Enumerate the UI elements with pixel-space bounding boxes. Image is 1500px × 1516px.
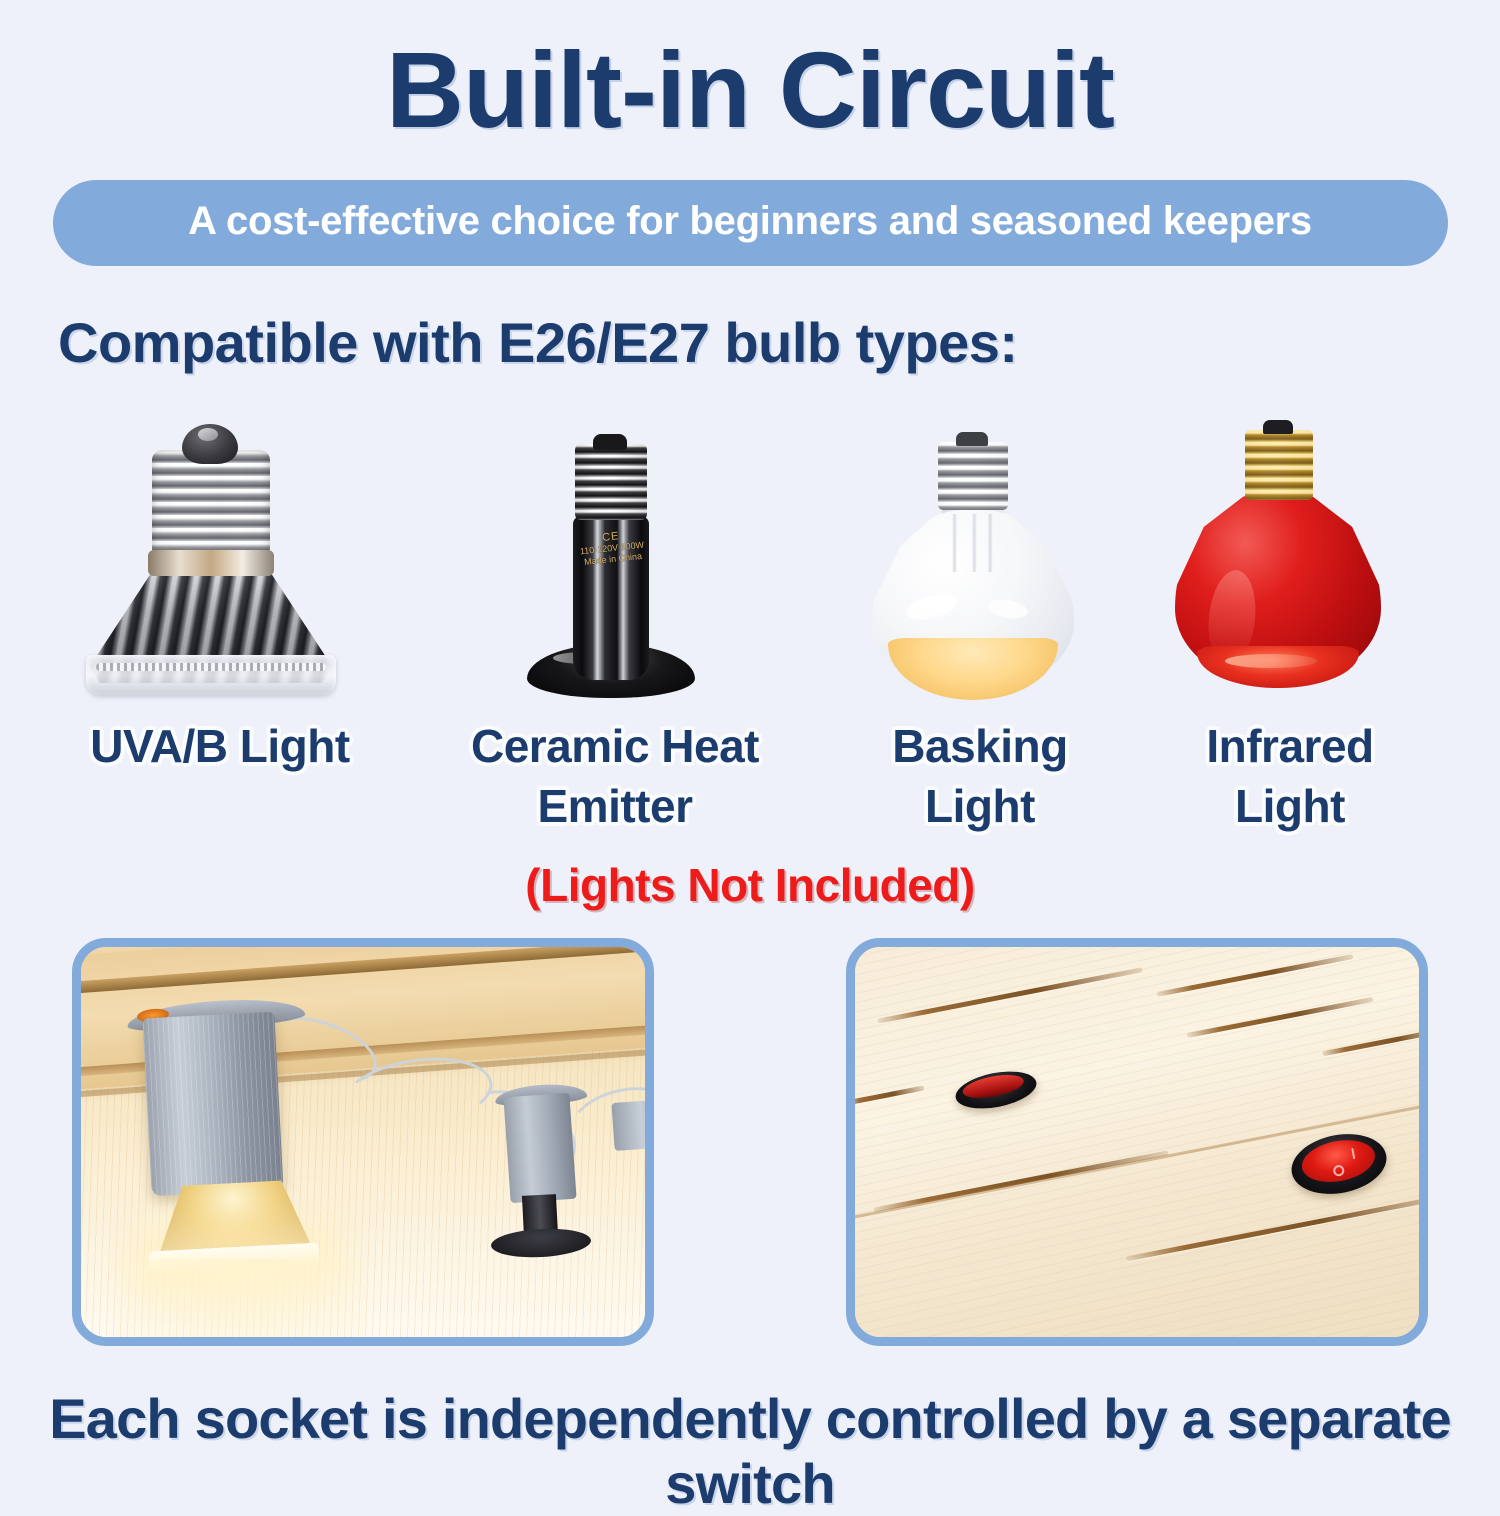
rocker-switches-on-wood-top-photo: [846, 938, 1428, 1346]
bulb-label-basking-light: Basking Light: [845, 716, 1115, 836]
second-lamp-socket: [503, 1093, 576, 1203]
third-lamp-socket: [611, 1099, 645, 1151]
subtitle-banner: A cost-effective choice for beginners an…: [53, 180, 1448, 266]
photo-canvas-right: [855, 947, 1419, 1337]
infrared-bulb-icon: [1135, 400, 1435, 700]
bulb-tip-contact: [593, 434, 627, 450]
bulb-screw-base: [938, 442, 1008, 510]
bulb-collar: [148, 550, 274, 576]
page-title: Built-in Circuit: [0, 36, 1500, 144]
bulb-tip-contact: [956, 432, 988, 446]
bulb-tip-contact: [1263, 420, 1293, 434]
sockets-under-wood-ceiling-photo: [72, 938, 654, 1346]
bulb-screw-base: [575, 444, 647, 520]
bulb-gallery: CE 110-120V 100W Made in China: [0, 400, 1500, 720]
bulb-screw-base: [1245, 430, 1313, 500]
bulb-lens: [86, 655, 336, 695]
compatibility-heading: Compatible with E26/E27 bulb types:: [58, 310, 1018, 375]
bulb-label-ceramic-heat-emitter: Ceramic Heat Emitter: [430, 716, 800, 836]
subtitle-banner-wrap: A cost-effective choice for beginners an…: [0, 180, 1500, 266]
switch-on-marking-icon: [1351, 1148, 1355, 1159]
bulb-filament: [940, 514, 1006, 572]
footer-caption: Each socket is independently controlled …: [0, 1386, 1500, 1516]
bulb-warm-glow: [888, 638, 1058, 700]
bulb-front-face: [1197, 646, 1359, 688]
uva-b-reflector-bulb-icon: [70, 400, 370, 700]
bulb-tip-contact: [182, 424, 238, 464]
photo-canvas-left: [81, 947, 645, 1337]
bulb-label-uva-b: UVA/B Light: [40, 716, 400, 776]
bulb-screw-base: [152, 450, 270, 560]
bulb-label-row: UVA/B Light Ceramic Heat Emitter Basking…: [0, 716, 1500, 846]
switch-off-marking-icon: [1332, 1164, 1345, 1177]
basking-bulb-icon: [830, 410, 1130, 710]
lights-not-included-disclaimer: (Lights Not Included): [0, 858, 1500, 912]
bulb-label-infrared-light: Infrared Light: [1160, 716, 1420, 836]
lamp-socket-body: [142, 1012, 283, 1197]
ceramic-heat-emitter-icon: CE 110-120V 100W Made in China: [463, 408, 763, 708]
light-glow-cone: [115, 1259, 365, 1337]
